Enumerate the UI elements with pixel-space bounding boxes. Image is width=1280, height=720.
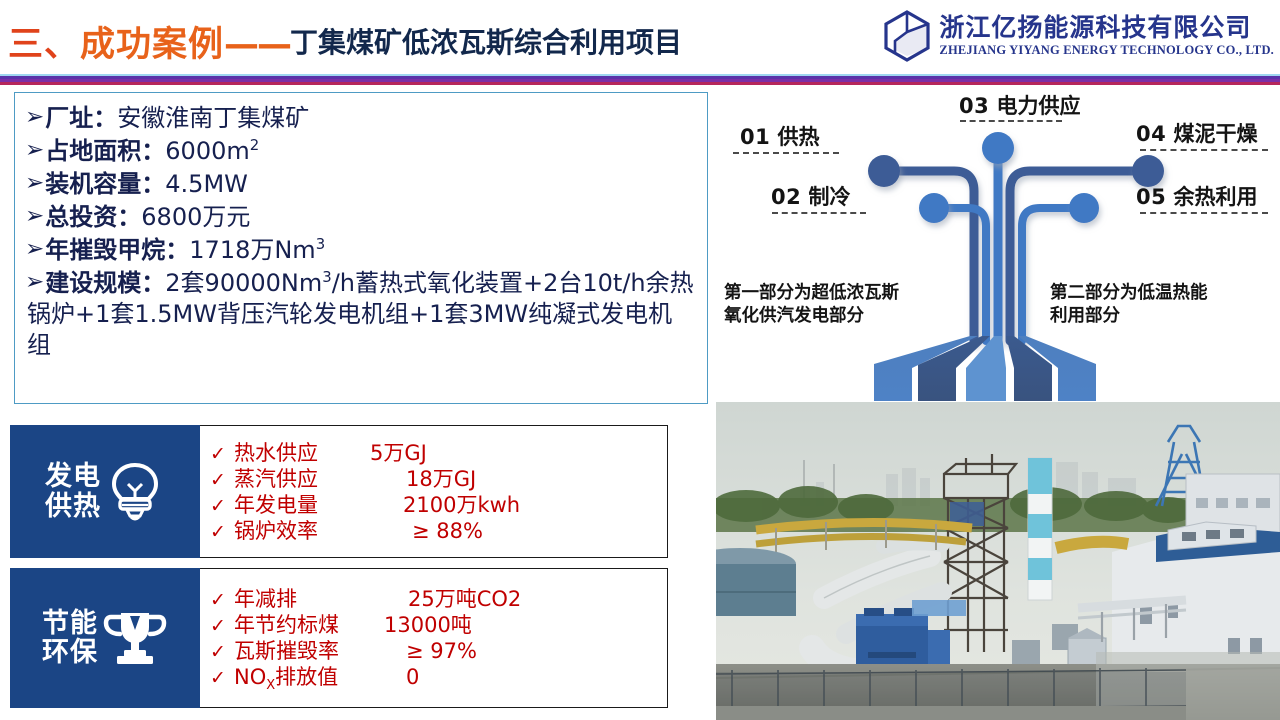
metric-key: 年节约标煤 — [234, 615, 362, 636]
node-dot-02 — [919, 193, 949, 223]
metric-row: ✓ NOX排放值 0 — [210, 667, 659, 688]
metric-row: ✓ 年发电量 2100万kwh — [210, 495, 659, 516]
panel-energy-saving: 节能 环保 ✓ 年减排 25万吨CO2 ✓ 年节约标煤 1 — [10, 568, 668, 708]
info-bullet-row: ➢ 建设规模： 2套90000Nm3/h蓄热式氧化装置+2台10t/h余热 — [25, 268, 695, 298]
metric-value: 0 — [362, 667, 419, 688]
bullet-arrow-icon: ➢ — [25, 268, 44, 297]
title-subtitle: 丁集煤矿低浓瓦斯综合利用项目 — [290, 26, 682, 59]
node-underline-01 — [733, 152, 839, 154]
bullet-arrow-icon: ➢ — [25, 202, 44, 231]
company-name-cn: 浙江亿扬能源科技有限公司 — [939, 15, 1274, 40]
panel-tag-line1: 节能 — [42, 609, 98, 638]
info-value: 6000m2 — [165, 136, 259, 166]
metric-key: NOX排放值 — [234, 667, 362, 688]
node-number-04: 04 — [1136, 122, 1166, 146]
panel-tag-line1: 发电 — [45, 462, 101, 491]
diagram-base-ribbons — [874, 336, 1096, 401]
info-bullet-row: ➢ 年摧毁甲烷： 1718万Nm3 — [25, 235, 695, 265]
node-number-01: 01 — [740, 125, 770, 149]
info-value: 安徽淮南丁集煤矿 — [117, 103, 309, 133]
node-text-02: 制冷 — [809, 185, 851, 209]
header-divider — [0, 74, 1280, 85]
node-text-01: 供热 — [778, 125, 820, 149]
node-dot-03 — [982, 132, 1014, 164]
node-text-05: 余热利用 — [1174, 185, 1258, 209]
process-diagram: 03 电力供应 01 供热 02 制冷 04 煤泥干燥 05 余热利用 第一部分… — [716, 86, 1280, 401]
diagram-caption-right: 第二部分为低温热能 利用部分 — [1050, 282, 1208, 328]
info-bullet-row: ➢ 占地面积： 6000m2 — [25, 136, 695, 166]
info-value-sup: 3 — [316, 235, 325, 253]
metric-key: 锅炉效率 — [234, 521, 356, 542]
node-dot-01 — [868, 155, 900, 187]
node-number-03: 03 — [959, 94, 989, 118]
check-icon: ✓ — [210, 497, 234, 516]
metric-value: 13000吨 — [362, 615, 472, 636]
metric-value: 25万吨CO2 — [362, 589, 521, 610]
info-label: 年摧毁甲烷： — [45, 235, 189, 265]
info-label: 装机容量： — [45, 169, 165, 199]
check-icon: ✓ — [210, 591, 234, 610]
metric-key: 瓦斯摧毁率 — [234, 641, 362, 662]
metric-row: ✓ 热水供应 5万GJ — [210, 443, 659, 464]
info-label: 厂址： — [45, 103, 117, 133]
metric-value: 2100万kwh — [356, 495, 520, 516]
lightbulb-icon — [105, 459, 165, 525]
node-underline-05 — [1140, 212, 1268, 214]
panel-tag-line2: 环保 — [42, 638, 98, 667]
storage-tank — [716, 548, 796, 616]
info-value-sup: 3 — [322, 268, 331, 286]
bullet-arrow-icon: ➢ — [25, 103, 44, 132]
panel-tag-energy-saving: 节能 环保 — [10, 568, 200, 708]
node-underline-04 — [1140, 149, 1268, 151]
panel-tag-line2: 供热 — [45, 492, 101, 521]
metric-row: ✓ 蒸汽供应 18万GJ — [210, 469, 659, 490]
panel-tag-label: 发电 供热 — [45, 462, 101, 520]
info-value: 1718万Nm3 — [189, 235, 325, 265]
node-number-02: 02 — [771, 185, 801, 209]
node-label-01: 01 供热 — [740, 121, 820, 151]
panel-body-energy-saving: ✓ 年减排 25万吨CO2 ✓ 年节约标煤 13000吨 ✓ 瓦斯摧毁率 ≥ 9… — [200, 568, 668, 708]
node-text-03: 电力供应 — [997, 94, 1081, 118]
info-label: 占地面积： — [45, 136, 165, 166]
info-bullet-row: ➢ 装机容量： 4.5MW — [25, 169, 695, 199]
node-number-05: 05 — [1136, 185, 1166, 209]
hexagon-cube-logo-icon — [883, 10, 931, 62]
info-value: 2套90000Nm3/h蓄热式氧化装置+2台10t/h余热 — [165, 268, 693, 298]
slide-root: 三、成功案例——丁集煤矿低浓瓦斯综合利用项目 浙江亿扬能源科技有限公司 ZHEJ… — [0, 0, 1280, 720]
metric-row: ✓ 年节约标煤 13000吨 — [210, 615, 659, 636]
metric-row: ✓ 年减排 25万吨CO2 — [210, 589, 659, 610]
node-underline-02 — [772, 212, 866, 214]
diagram-caption-left: 第一部分为超低浓瓦斯 氧化供汽发电部分 — [724, 282, 899, 328]
info-label: 建设规模： — [45, 268, 165, 298]
check-icon: ✓ — [210, 471, 234, 490]
info-value: 4.5MW — [165, 169, 248, 199]
company-name-block: 浙江亿扬能源科技有限公司 ZHEJIANG YIYANG ENERGY TECH… — [939, 15, 1274, 57]
bullet-arrow-icon: ➢ — [25, 169, 44, 198]
metric-value: ≥ 88% — [356, 521, 483, 542]
metric-row: ✓ 锅炉效率 ≥ 88% — [210, 521, 659, 542]
company-name-en: ZHEJIANG YIYANG ENERGY TECHNOLOGY CO., L… — [939, 44, 1274, 57]
panel-tag-power-heat: 发电 供热 — [10, 425, 200, 558]
check-icon: ✓ — [210, 523, 234, 542]
node-underline-03 — [960, 120, 1062, 122]
project-info-box: ➢ 厂址： 安徽淮南丁集煤矿 ➢ 占地面积： 6000m2 ➢ 装机容量： 4.… — [14, 92, 708, 404]
metric-key: 热水供应 — [234, 443, 356, 464]
metric-row: ✓ 瓦斯摧毁率 ≥ 97% — [210, 641, 659, 662]
metric-key: 年发电量 — [234, 495, 356, 516]
slide-header: 三、成功案例——丁集煤矿低浓瓦斯综合利用项目 浙江亿扬能源科技有限公司 ZHEJ… — [0, 0, 1280, 76]
check-icon: ✓ — [210, 669, 234, 688]
node-text-04: 煤泥干燥 — [1174, 122, 1258, 146]
title-dash: —— — [224, 25, 290, 65]
info-wrap-line: 锅炉+1套1.5MW背压汽轮发电机组+1套3MW纯凝式发电机组 — [25, 299, 695, 361]
panel-power-heat: 发电 供热 ✓ 热水供应 5万GJ ✓ 蒸汽供应 18万G — [10, 425, 668, 558]
title-main: 成功案例 — [80, 25, 224, 65]
project-site-photo — [716, 402, 1280, 720]
trophy-icon — [102, 609, 168, 667]
info-bullet-row: ➢ 厂址： 安徽淮南丁集煤矿 — [25, 103, 695, 133]
info-value-sup: 2 — [250, 136, 259, 154]
node-label-05: 05 余热利用 — [1136, 181, 1258, 211]
metric-key: 年减排 — [234, 589, 362, 610]
check-icon: ✓ — [210, 445, 234, 464]
title-number: 三、 — [8, 25, 80, 65]
plant-chimney — [1028, 458, 1052, 600]
check-icon: ✓ — [210, 617, 234, 636]
site-photo-illustration — [716, 402, 1280, 720]
info-bullet-row: ➢ 总投资： 6800万元 — [25, 202, 695, 232]
bullet-arrow-icon: ➢ — [25, 235, 44, 264]
info-value: 6800万元 — [141, 202, 250, 232]
check-icon: ✓ — [210, 643, 234, 662]
metric-value: 18万GJ — [356, 469, 476, 490]
node-label-04: 04 煤泥干燥 — [1136, 118, 1258, 148]
metric-key-sub: X — [266, 678, 275, 693]
node-label-02: 02 制冷 — [771, 181, 851, 211]
metric-key: 蒸汽供应 — [234, 469, 356, 490]
node-label-03: 03 电力供应 — [959, 90, 1081, 120]
metric-value: 5万GJ — [356, 443, 427, 464]
node-dot-05 — [1069, 193, 1099, 223]
page-title: 三、成功案例——丁集煤矿低浓瓦斯综合利用项目 — [8, 16, 682, 67]
bullet-arrow-icon: ➢ — [25, 136, 44, 165]
divider-stripe-crimson — [0, 82, 1280, 85]
info-label: 总投资： — [45, 202, 141, 232]
panel-tag-label: 节能 环保 — [42, 609, 98, 667]
company-logo: 浙江亿扬能源科技有限公司 ZHEJIANG YIYANG ENERGY TECH… — [883, 10, 1274, 62]
panel-body-power-heat: ✓ 热水供应 5万GJ ✓ 蒸汽供应 18万GJ ✓ 年发电量 2100万kwh… — [200, 425, 668, 558]
metric-value: ≥ 97% — [362, 641, 477, 662]
